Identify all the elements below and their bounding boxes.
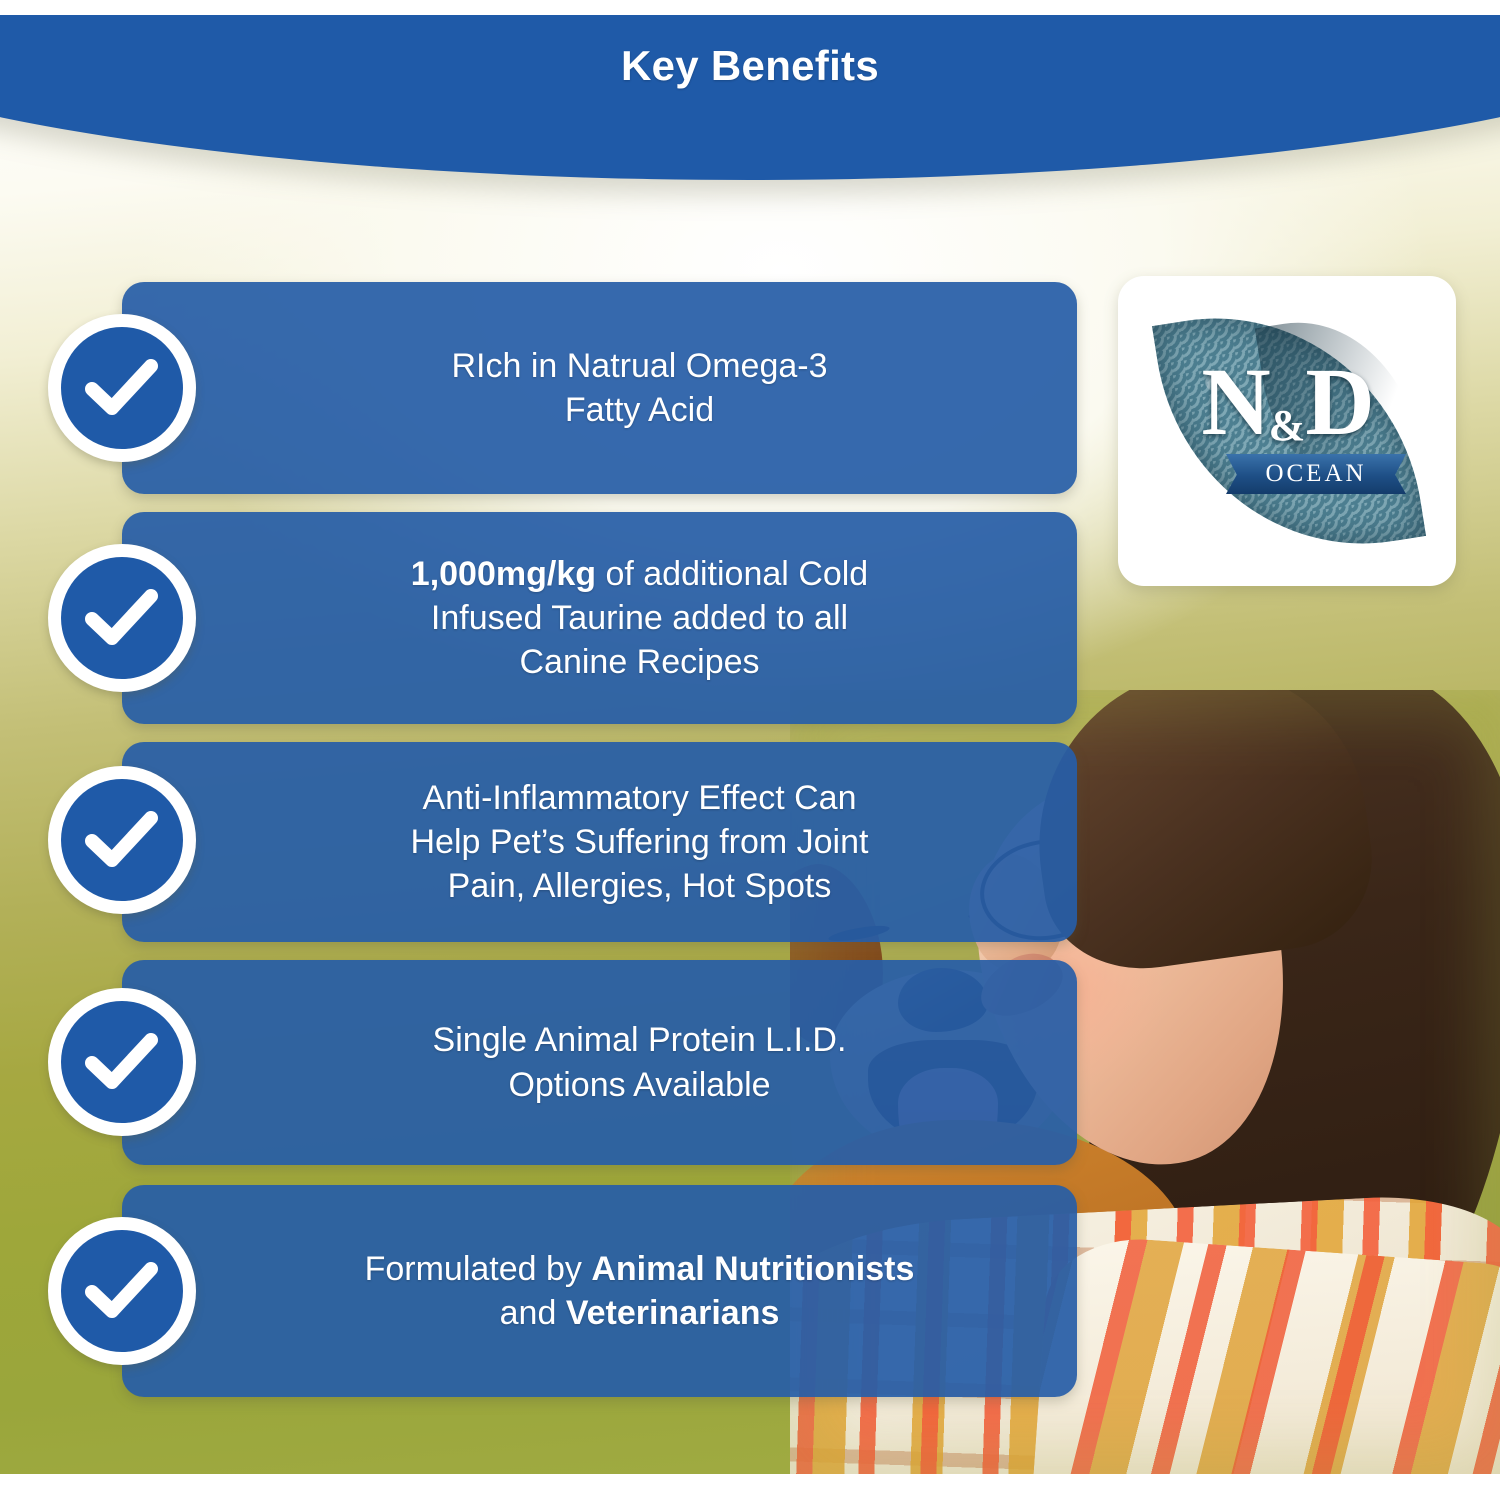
logo-letter-n: N [1201,348,1268,455]
check-icon [61,779,183,901]
logo-ocean-text: OCEAN [1265,460,1366,488]
bottom-white-strip [0,1474,1500,1500]
benefit-line-strong: Animal Nutritionists [591,1250,914,1288]
benefit-line: Help Pet’s Suffering from Joint [411,823,869,861]
benefit-line-strong: 1,000mg/kg [411,555,596,593]
check-badge-1 [48,314,196,462]
benefit-line: Canine Recipes [519,643,759,681]
logo-ocean-banner: OCEAN [1226,454,1406,494]
infographic-canvas: Key Benefits RIch in Natrual Omega-3 Fat… [0,0,1500,1500]
benefit-line: Pain, Allergies, Hot Spots [448,867,832,905]
benefit-text-5: Formulated by Animal Nutritionists and V… [272,1247,1007,1335]
top-white-strip [0,0,1500,15]
check-icon [61,557,183,679]
benefit-card-4[interactable]: Single Animal Protein L.I.D. Options Ava… [122,960,1077,1165]
check-badge-3 [48,766,196,914]
check-badge-5 [48,1217,196,1365]
benefit-line: Single Animal Protein L.I.D. [433,1021,847,1059]
benefit-text-2: 1,000mg/kg of additional Cold Infused Ta… [272,552,1007,685]
benefit-card-2[interactable]: 1,000mg/kg of additional Cold Infused Ta… [122,512,1077,724]
benefit-text-4: Single Animal Protein L.I.D. Options Ava… [272,1018,1007,1106]
benefit-card-5[interactable]: Formulated by Animal Nutritionists and V… [122,1185,1077,1397]
check-icon [61,327,183,449]
benefit-card-1[interactable]: RIch in Natrual Omega-3 Fatty Acid [122,282,1077,494]
benefit-text-1: RIch in Natrual Omega-3 Fatty Acid [272,344,1007,432]
logo-brand-text: N&D [1118,354,1456,450]
check-icon [61,1230,183,1352]
benefit-card-3[interactable]: Anti-Inflammatory Effect Can Help Pet’s … [122,742,1077,942]
benefit-line: Anti-Inflammatory Effect Can [423,779,857,817]
logo-letter-d: D [1305,348,1372,455]
logo-ampersand: & [1269,401,1306,450]
benefit-line: Formulated by [365,1250,592,1288]
check-icon [61,1001,183,1123]
benefit-line: of additional Cold [596,555,868,593]
benefit-line: and [500,1294,566,1332]
check-badge-2 [48,544,196,692]
benefit-line: Infused Taurine added to all [431,599,848,637]
benefit-line-strong: Veterinarians [566,1294,780,1332]
check-badge-4 [48,988,196,1136]
nd-ocean-logo: N&D OCEAN [1118,276,1456,586]
benefit-line: RIch in Natrual Omega-3 [451,347,827,385]
benefit-text-3: Anti-Inflammatory Effect Can Help Pet’s … [272,776,1007,909]
benefits-list: RIch in Natrual Omega-3 Fatty Acid 1,000… [0,0,1500,1500]
benefit-line: Fatty Acid [565,391,714,429]
benefit-line: Options Available [508,1066,770,1104]
